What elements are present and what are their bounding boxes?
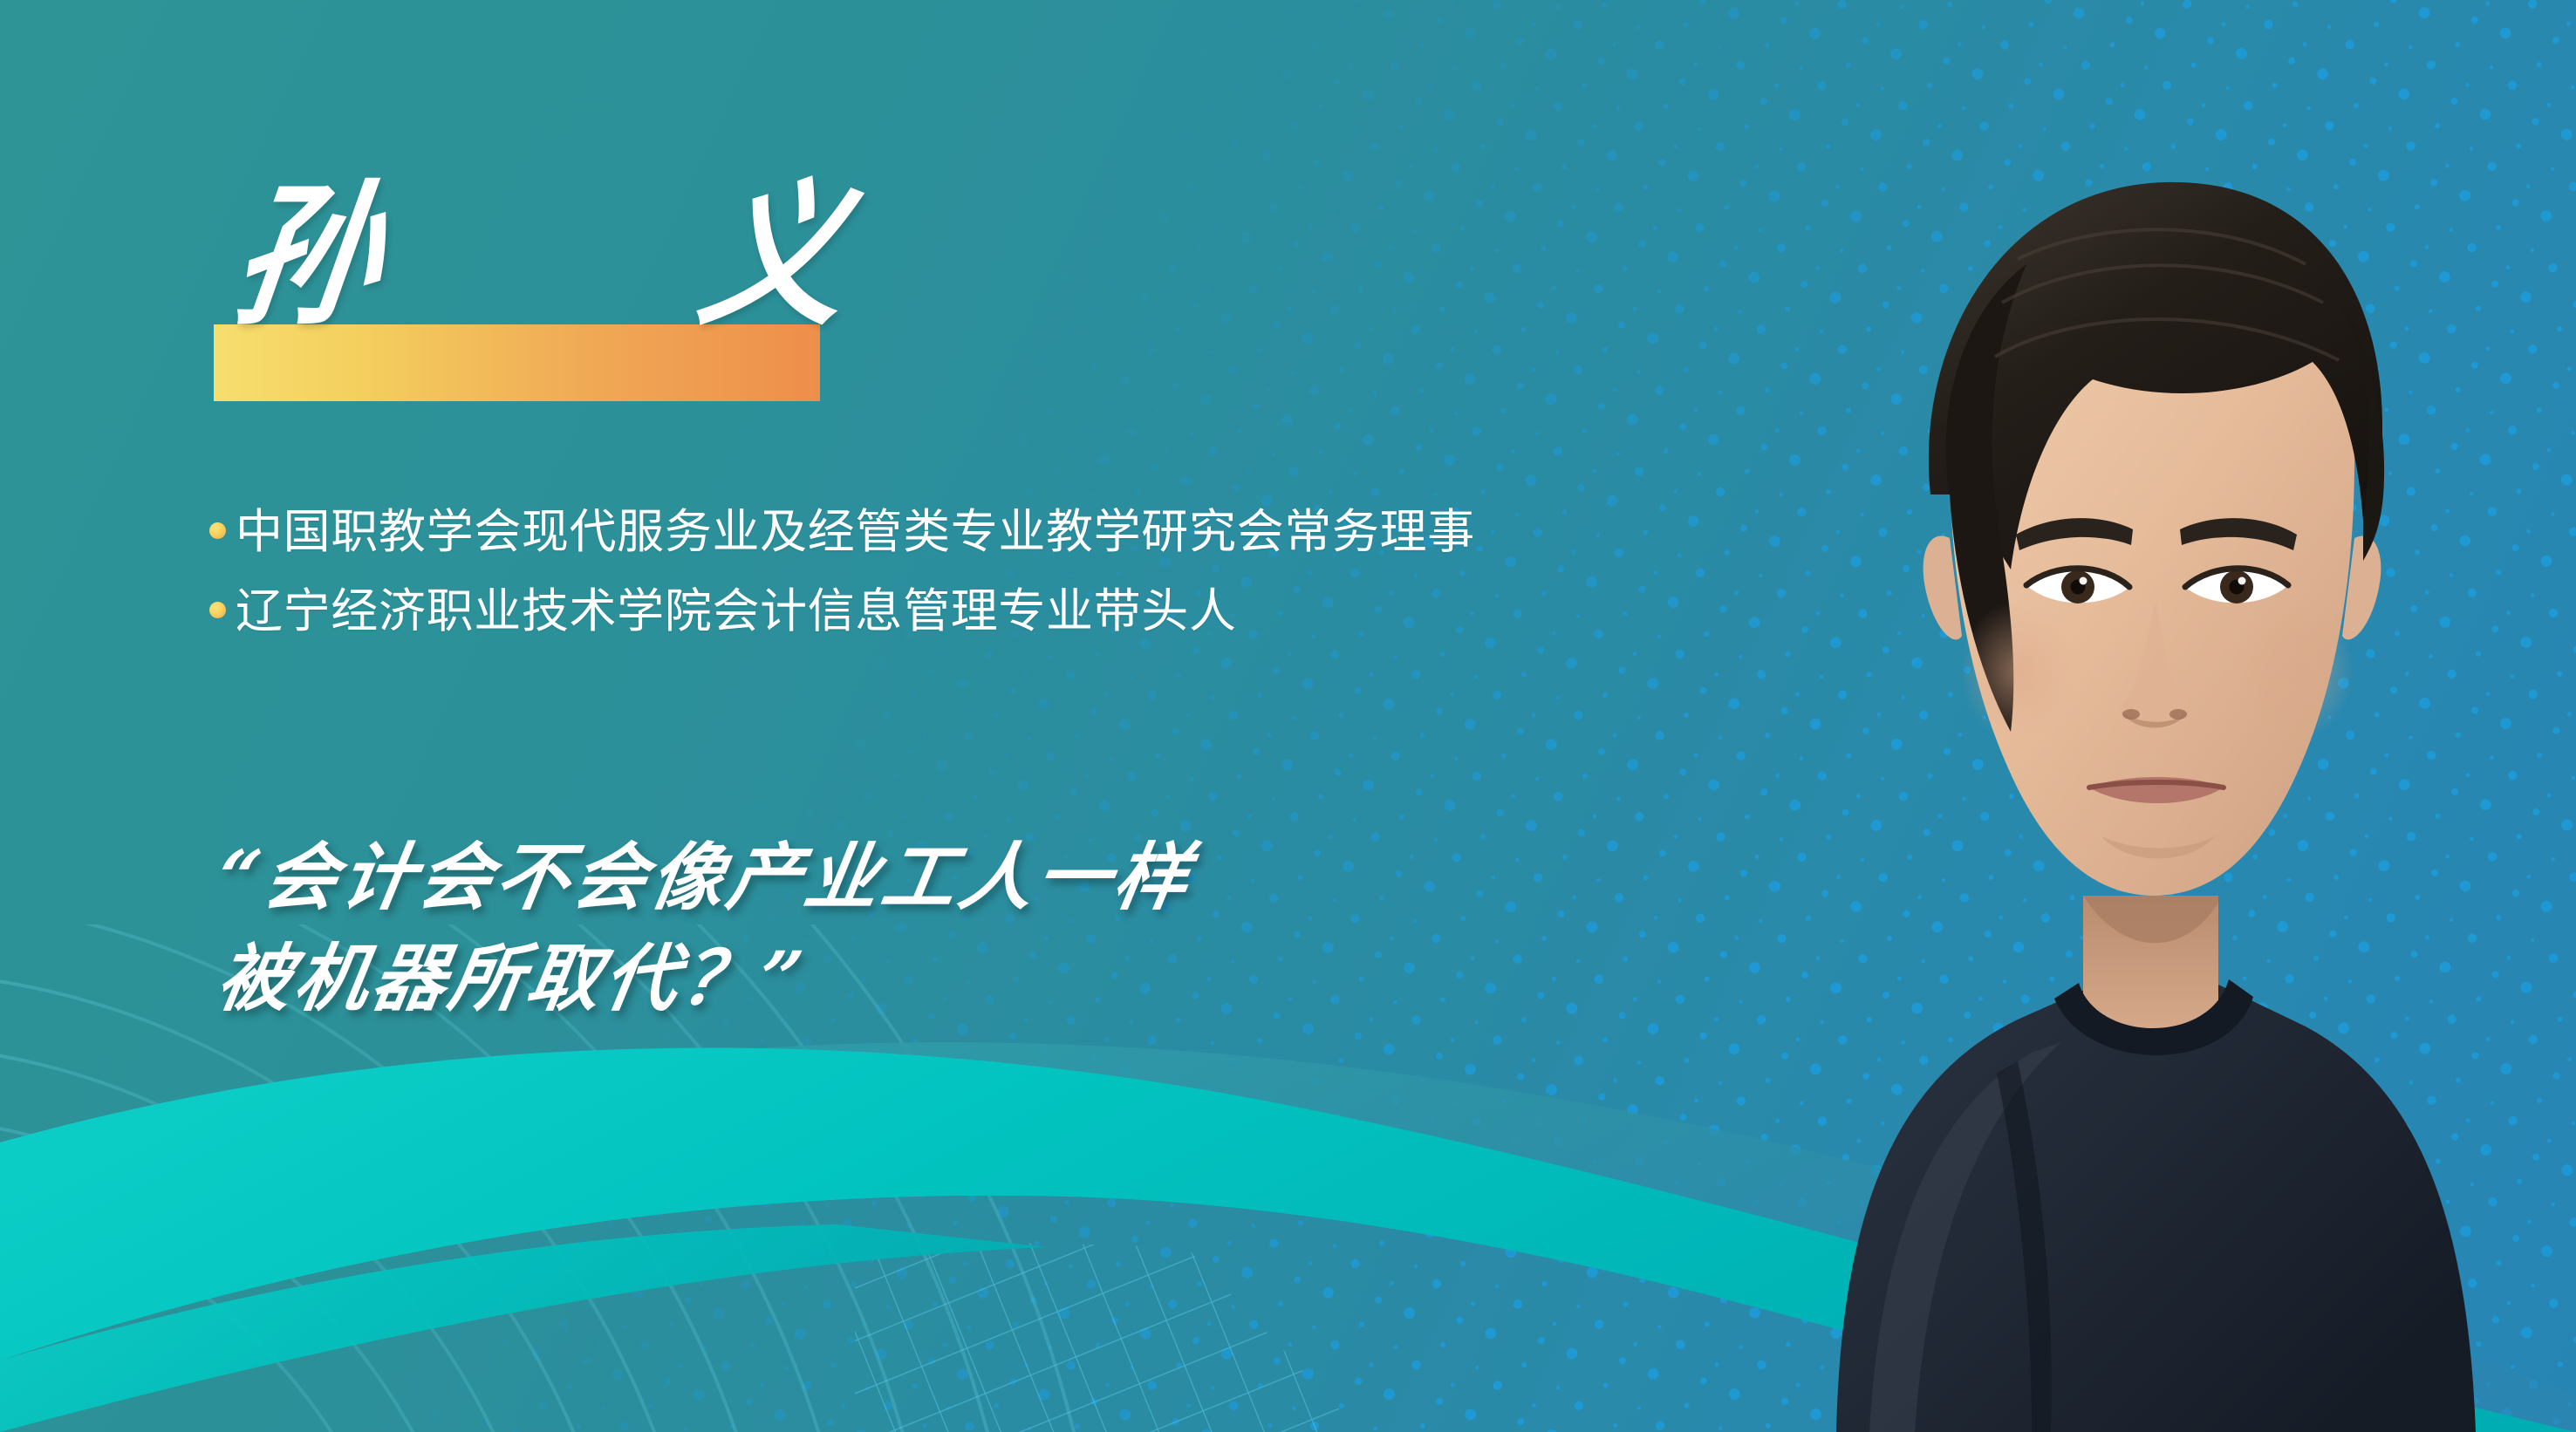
- bullet-dot-icon: [209, 522, 226, 539]
- speaker-intro-slide: 孙 义 中国职教学会现代服务业及经管类专业教学研究会常务理事 辽宁经济职业技术学…: [0, 0, 2576, 1432]
- speaker-name-block: 孙 义: [214, 196, 877, 414]
- credentials-list: 中国职教学会现代服务业及经管类专业教学研究会常务理事 辽宁经济职业技术学院会计信…: [209, 499, 1623, 657]
- credential-text: 中国职教学会现代服务业及经管类专业教学研究会常务理事: [236, 499, 1475, 566]
- speaker-name: 孙 义: [225, 179, 899, 334]
- bullet-dot-icon: [209, 602, 226, 618]
- list-item: 中国职教学会现代服务业及经管类专业教学研究会常务理事: [209, 499, 1623, 566]
- quote-line: “会计会不会像产业工人一样: [210, 827, 1534, 928]
- speaker-portrait-photo: [1608, 85, 2576, 1432]
- credential-text: 辽宁经济职业技术学院会计信息管理专业带头人: [236, 578, 1237, 645]
- list-item: 辽宁经济职业技术学院会计信息管理专业带头人: [209, 578, 1623, 645]
- quote-line: 被机器所取代？”: [210, 928, 1534, 1029]
- speaker-quote: “会计会不会像产业工人一样 被机器所取代？”: [218, 827, 1527, 1029]
